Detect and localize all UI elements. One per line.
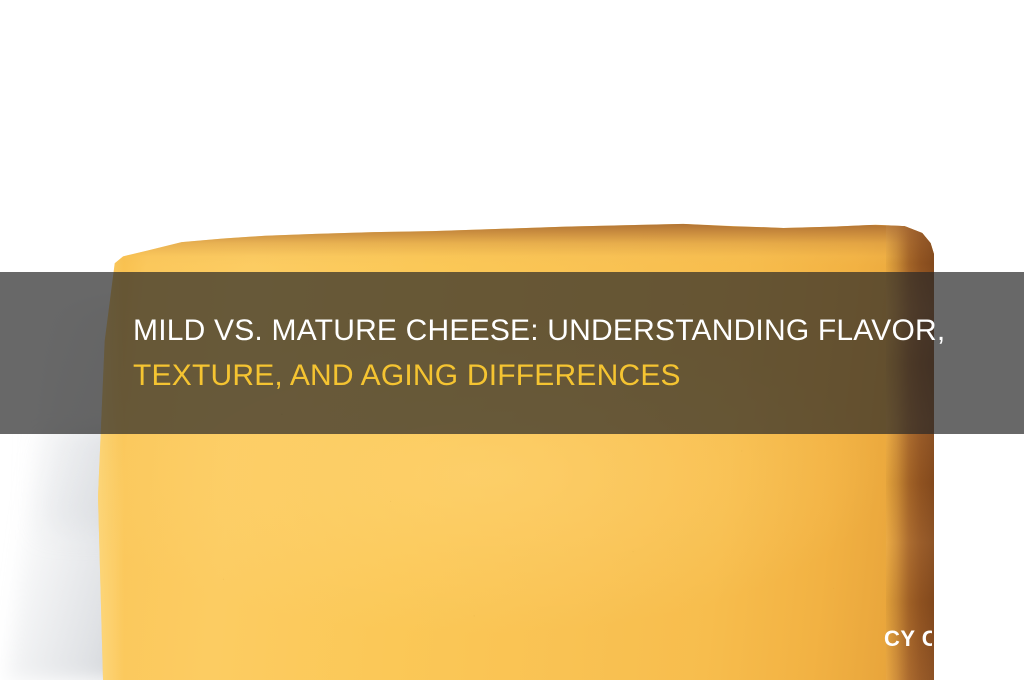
cheese-top-rind [98,222,934,266]
screenshot-canvas: MILD VS. MATURE CHEESE: UNDERSTANDING FL… [0,0,1024,680]
watermark-text: CY CH [884,622,932,656]
caption-line-1: MILD VS. MATURE CHEESE: UNDERSTANDING FL… [133,308,1024,353]
caption-line-2: TEXTURE, AND AGING DIFFERENCES [133,353,1024,398]
watermark: CY CH [884,622,932,656]
caption-text-block: MILD VS. MATURE CHEESE: UNDERSTANDING FL… [0,272,1024,434]
